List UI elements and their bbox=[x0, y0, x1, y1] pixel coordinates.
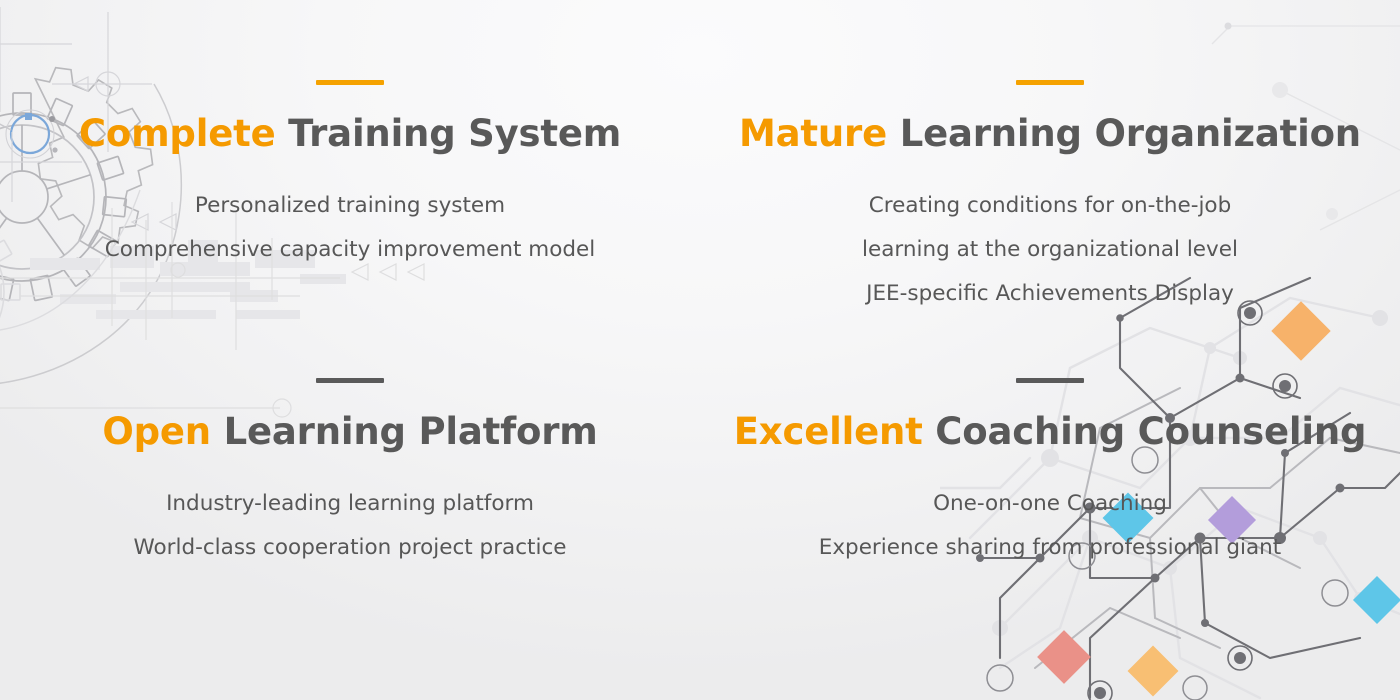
feature-heading-highlight: Excellent bbox=[734, 410, 923, 453]
feature-line: World-class cooperation project practice bbox=[133, 526, 566, 570]
feature-lines: Personalized training system Comprehensi… bbox=[105, 184, 595, 272]
feature-line: Creating conditions for on-the-job bbox=[862, 184, 1238, 228]
feature-line: Industry-leading learning platform bbox=[133, 482, 566, 526]
feature-line: Comprehensive capacity improvement model bbox=[105, 228, 595, 272]
feature-heading: Complete Training System bbox=[79, 114, 621, 155]
feature-lines: Industry-leading learning platform World… bbox=[133, 482, 566, 570]
feature-heading-rest: Learning Organization bbox=[887, 112, 1361, 155]
feature-heading: Mature Learning Organization bbox=[739, 114, 1361, 155]
feature-line: learning at the organizational level bbox=[862, 228, 1238, 272]
feature-line: JEE-specific Achievements Display bbox=[862, 272, 1238, 316]
feature-divider bbox=[316, 378, 384, 383]
feature-block-complete-training-system: Complete Training System Personalized tr… bbox=[0, 0, 700, 350]
feature-heading-highlight: Mature bbox=[739, 112, 887, 155]
slide-canvas: Complete Training System Personalized tr… bbox=[0, 0, 1400, 700]
feature-lines: One-on-one Coaching Experience sharing f… bbox=[819, 482, 1281, 570]
feature-heading-rest: Training System bbox=[275, 112, 621, 155]
feature-heading: Excellent Coaching Counseling bbox=[734, 412, 1367, 453]
feature-heading-rest: Learning Platform bbox=[211, 410, 598, 453]
feature-line: Experience sharing from professional gia… bbox=[819, 526, 1281, 570]
feature-divider bbox=[316, 80, 384, 85]
feature-line: Personalized training system bbox=[105, 184, 595, 228]
feature-heading-highlight: Complete bbox=[79, 112, 276, 155]
feature-block-mature-learning-organization: Mature Learning Organization Creating co… bbox=[700, 0, 1400, 350]
feature-heading: Open Learning Platform bbox=[102, 412, 597, 453]
feature-block-open-learning-platform: Open Learning Platform Industry-leading … bbox=[0, 350, 700, 700]
feature-line: One-on-one Coaching bbox=[819, 482, 1281, 526]
feature-block-excellent-coaching-counseling: Excellent Coaching Counseling One-on-one… bbox=[700, 350, 1400, 700]
feature-heading-highlight: Open bbox=[102, 410, 211, 453]
feature-divider bbox=[1016, 378, 1084, 383]
feature-grid: Complete Training System Personalized tr… bbox=[0, 0, 1400, 700]
feature-lines: Creating conditions for on-the-job learn… bbox=[862, 184, 1238, 316]
feature-heading-rest: Coaching Counseling bbox=[923, 410, 1367, 453]
feature-divider bbox=[1016, 80, 1084, 85]
